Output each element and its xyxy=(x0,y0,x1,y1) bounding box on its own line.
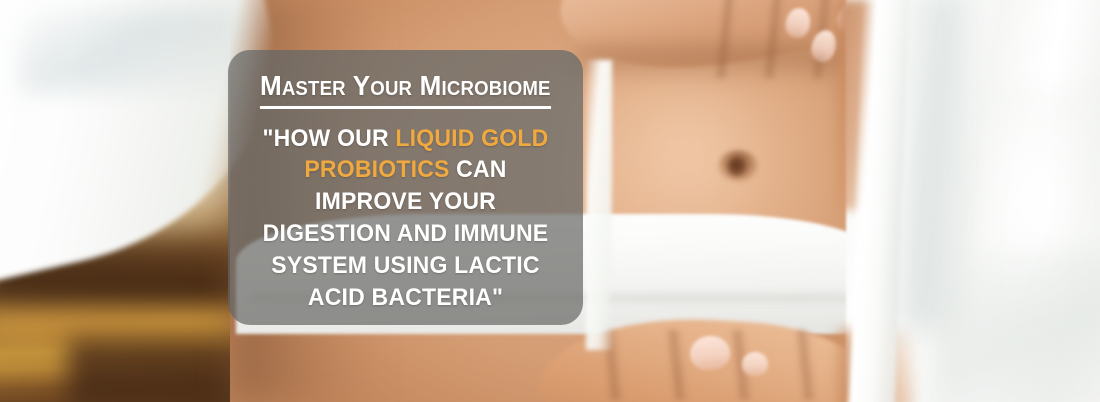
promo-banner: Master Your Microbiome "HOW OUR LIQUID G… xyxy=(0,0,1100,402)
navel-inner xyxy=(728,157,746,176)
wood-cabinet xyxy=(68,338,252,402)
subheadline: "HOW OUR LIQUID GOLD PROBIOTICS CAN IMPR… xyxy=(248,123,563,314)
towel-shading xyxy=(20,10,240,90)
text-overlay-panel: Master Your Microbiome "HOW OUR LIQUID G… xyxy=(228,50,583,325)
subheadline-part-plain-1: "HOW OUR xyxy=(263,125,396,152)
page-title: Master Your Microbiome xyxy=(260,72,551,109)
headline-container: Master Your Microbiome xyxy=(238,72,573,109)
towel-strip xyxy=(586,60,612,350)
bathrobe-fold-lower xyxy=(940,250,1100,402)
